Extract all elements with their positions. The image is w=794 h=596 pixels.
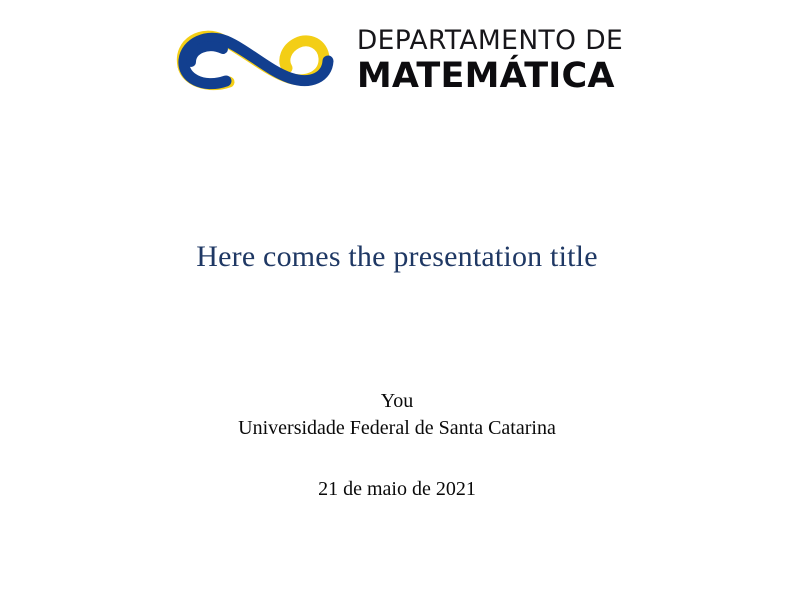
presentation-date: 21 de maio de 2021 [0, 476, 794, 503]
logo-wordmark: DEPARTAMENTO DE MATEMÁTICA [357, 26, 623, 95]
logo-wordmark-line2: MATEMÁTICA [357, 59, 623, 94]
department-logo: DEPARTAMENTO DE MATEMÁTICA [0, 18, 794, 102]
logo-wordmark-line1: DEPARTAMENTO DE [357, 28, 623, 55]
presentation-title: Here comes the presentation title [0, 240, 794, 275]
title-area: Here comes the presentation title [0, 240, 794, 275]
institute-name: Universidade Federal de Santa Catarina [0, 415, 794, 442]
title-slide: DEPARTAMENTO DE MATEMÁTICA Here comes th… [0, 0, 794, 596]
author-name: You [0, 388, 794, 415]
credits-area: You Universidade Federal de Santa Catari… [0, 388, 794, 503]
infinity-lemniscate-logo-icon [171, 18, 341, 102]
